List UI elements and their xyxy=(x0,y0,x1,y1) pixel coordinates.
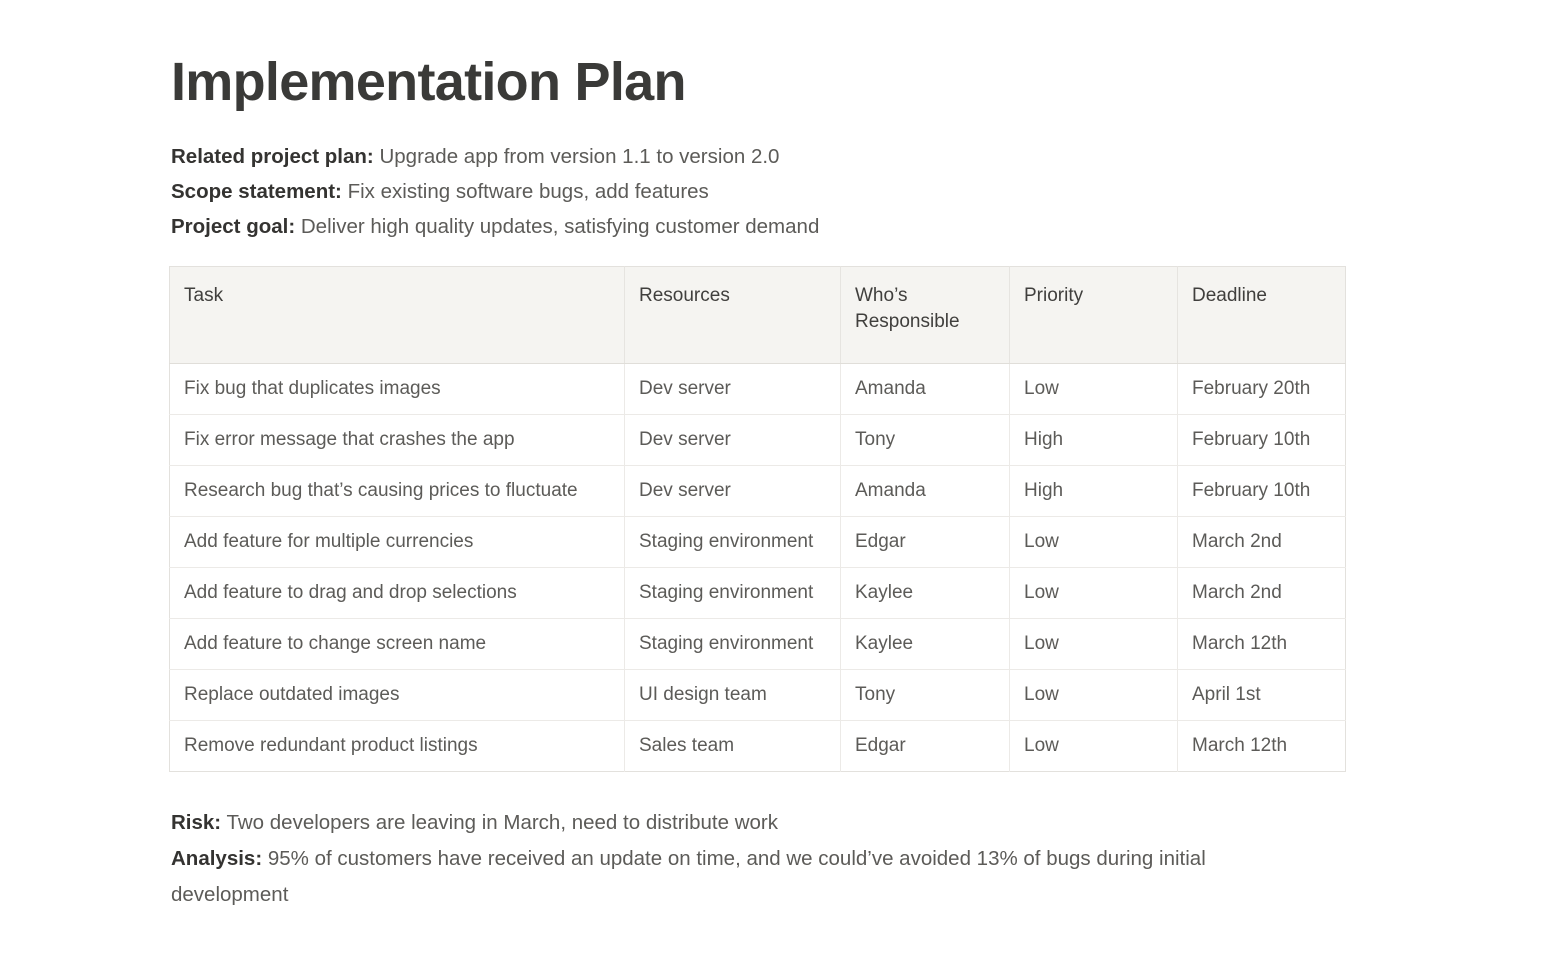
footer-label-analysis: Analysis: xyxy=(171,847,262,870)
cell-deadline: February 20th xyxy=(1178,363,1346,414)
meta-line-project-goal: Project goal: Deliver high quality updat… xyxy=(171,209,1369,244)
table-row: Fix bug that duplicates images Dev serve… xyxy=(170,363,1346,414)
meta-label-related-project-plan: Related project plan: xyxy=(171,145,374,168)
cell-who-responsible: Edgar xyxy=(841,516,1010,567)
cell-task: Remove redundant product listings xyxy=(170,720,625,771)
table-row: Fix error message that crashes the app D… xyxy=(170,414,1346,465)
cell-deadline: April 1st xyxy=(1178,669,1346,720)
cell-deadline: February 10th xyxy=(1178,414,1346,465)
cell-priority: Low xyxy=(1010,720,1178,771)
table-header: Task Resources Who’s Responsible Priorit… xyxy=(170,266,1346,363)
cell-priority: High xyxy=(1010,414,1178,465)
cell-resources: UI design team xyxy=(625,669,841,720)
cell-who-responsible: Kaylee xyxy=(841,618,1010,669)
column-header-resources: Resources xyxy=(625,266,841,363)
column-header-task: Task xyxy=(170,266,625,363)
footer-line-risk: Risk: Two developers are leaving in Marc… xyxy=(171,805,1231,841)
cell-deadline: March 2nd xyxy=(1178,567,1346,618)
footer-value-analysis: 95% of customers have received an update… xyxy=(171,847,1206,906)
cell-task: Add feature for multiple currencies xyxy=(170,516,625,567)
cell-who-responsible: Kaylee xyxy=(841,567,1010,618)
table-row: Add feature to change screen name Stagin… xyxy=(170,618,1346,669)
cell-priority: Low xyxy=(1010,363,1178,414)
cell-priority: Low xyxy=(1010,618,1178,669)
meta-value-scope-statement: Fix existing software bugs, add features xyxy=(348,180,709,203)
cell-task: Fix bug that duplicates images xyxy=(170,363,625,414)
table-body: Fix bug that duplicates images Dev serve… xyxy=(170,363,1346,771)
cell-resources: Dev server xyxy=(625,363,841,414)
cell-task: Add feature to drag and drop selections xyxy=(170,567,625,618)
cell-priority: High xyxy=(1010,465,1178,516)
cell-task: Add feature to change screen name xyxy=(170,618,625,669)
cell-who-responsible: Amanda xyxy=(841,465,1010,516)
document-body: Implementation Plan Related project plan… xyxy=(169,54,1369,913)
cell-who-responsible: Amanda xyxy=(841,363,1010,414)
cell-resources: Staging environment xyxy=(625,618,841,669)
cell-who-responsible: Edgar xyxy=(841,720,1010,771)
cell-task: Research bug that’s causing prices to fl… xyxy=(170,465,625,516)
page-title: Implementation Plan xyxy=(171,54,1369,111)
footer-label-risk: Risk: xyxy=(171,811,221,834)
cell-resources: Dev server xyxy=(625,414,841,465)
column-header-priority: Priority xyxy=(1010,266,1178,363)
cell-deadline: March 12th xyxy=(1178,720,1346,771)
cell-resources: Sales team xyxy=(625,720,841,771)
table-row: Remove redundant product listings Sales … xyxy=(170,720,1346,771)
footer-value-risk: Two developers are leaving in March, nee… xyxy=(226,811,778,834)
table-header-row: Task Resources Who’s Responsible Priorit… xyxy=(170,266,1346,363)
cell-deadline: March 2nd xyxy=(1178,516,1346,567)
meta-line-related-project-plan: Related project plan: Upgrade app from v… xyxy=(171,139,1369,174)
cell-who-responsible: Tony xyxy=(841,669,1010,720)
meta-label-project-goal: Project goal: xyxy=(171,215,295,238)
cell-resources: Staging environment xyxy=(625,567,841,618)
cell-resources: Staging environment xyxy=(625,516,841,567)
cell-priority: Low xyxy=(1010,516,1178,567)
implementation-plan-table: Task Resources Who’s Responsible Priorit… xyxy=(169,266,1346,772)
footer-line-analysis: Analysis: 95% of customers have received… xyxy=(171,841,1231,913)
table-row: Add feature for multiple currencies Stag… xyxy=(170,516,1346,567)
meta-label-scope-statement: Scope statement: xyxy=(171,180,342,203)
project-meta-block: Related project plan: Upgrade app from v… xyxy=(171,139,1369,244)
cell-resources: Dev server xyxy=(625,465,841,516)
cell-who-responsible: Tony xyxy=(841,414,1010,465)
meta-line-scope-statement: Scope statement: Fix existing software b… xyxy=(171,174,1369,209)
cell-task: Fix error message that crashes the app xyxy=(170,414,625,465)
cell-priority: Low xyxy=(1010,567,1178,618)
column-header-whos-responsible: Who’s Responsible xyxy=(841,266,1010,363)
column-header-deadline: Deadline xyxy=(1178,266,1346,363)
footer-notes-block: Risk: Two developers are leaving in Marc… xyxy=(171,805,1231,913)
cell-deadline: February 10th xyxy=(1178,465,1346,516)
table-row: Add feature to drag and drop selections … xyxy=(170,567,1346,618)
cell-deadline: March 12th xyxy=(1178,618,1346,669)
meta-value-related-project-plan: Upgrade app from version 1.1 to version … xyxy=(379,145,779,168)
cell-task: Replace outdated images xyxy=(170,669,625,720)
cell-priority: Low xyxy=(1010,669,1178,720)
table-row: Replace outdated images UI design team T… xyxy=(170,669,1346,720)
table-row: Research bug that’s causing prices to fl… xyxy=(170,465,1346,516)
meta-value-project-goal: Deliver high quality updates, satisfying… xyxy=(301,215,819,238)
document-page: Implementation Plan Related project plan… xyxy=(0,0,1552,968)
